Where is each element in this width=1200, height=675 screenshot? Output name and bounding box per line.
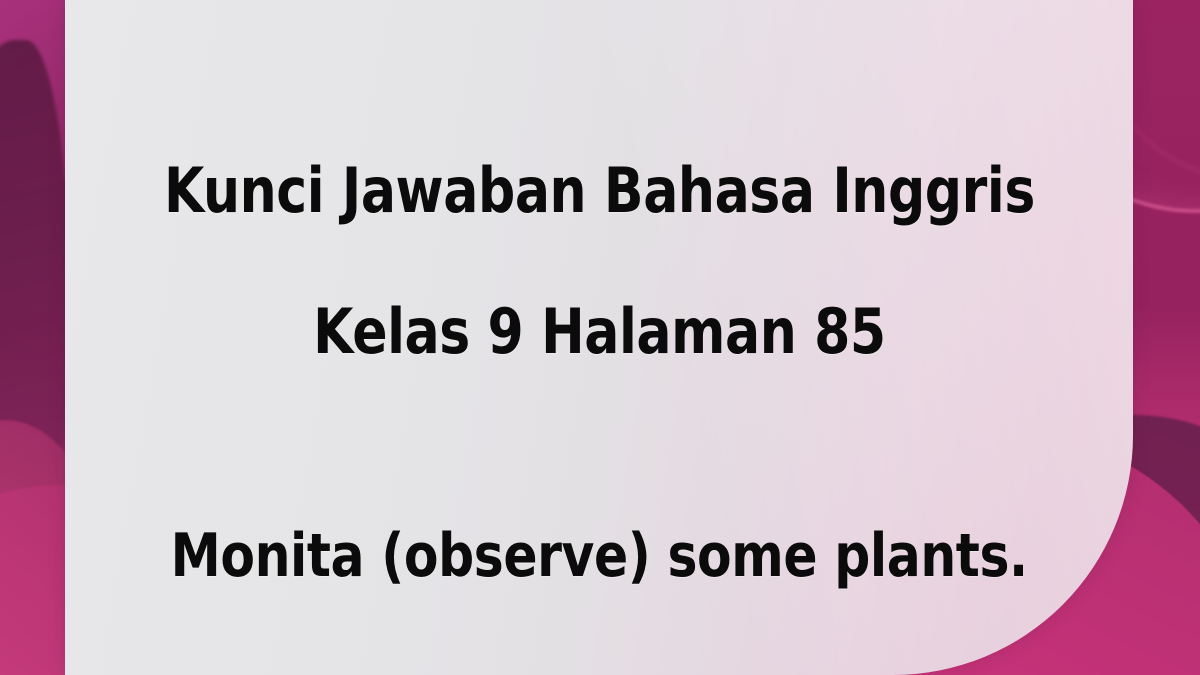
page-subtitle: Monita (observe) some plants. [170, 523, 1027, 589]
page-title-line-1: Kunci Jawaban Bahasa Inggris [163, 156, 1034, 226]
page-title: Kunci Jawaban Bahasa Inggris Kelas 9 Hal… [163, 86, 1034, 436]
page-title-line-2: Kelas 9 Halaman 85 [163, 297, 1034, 367]
text-block: Kunci Jawaban Bahasa Inggris Kelas 9 Hal… [65, 0, 1133, 675]
slide-canvas: Kunci Jawaban Bahasa Inggris Kelas 9 Hal… [0, 0, 1200, 675]
